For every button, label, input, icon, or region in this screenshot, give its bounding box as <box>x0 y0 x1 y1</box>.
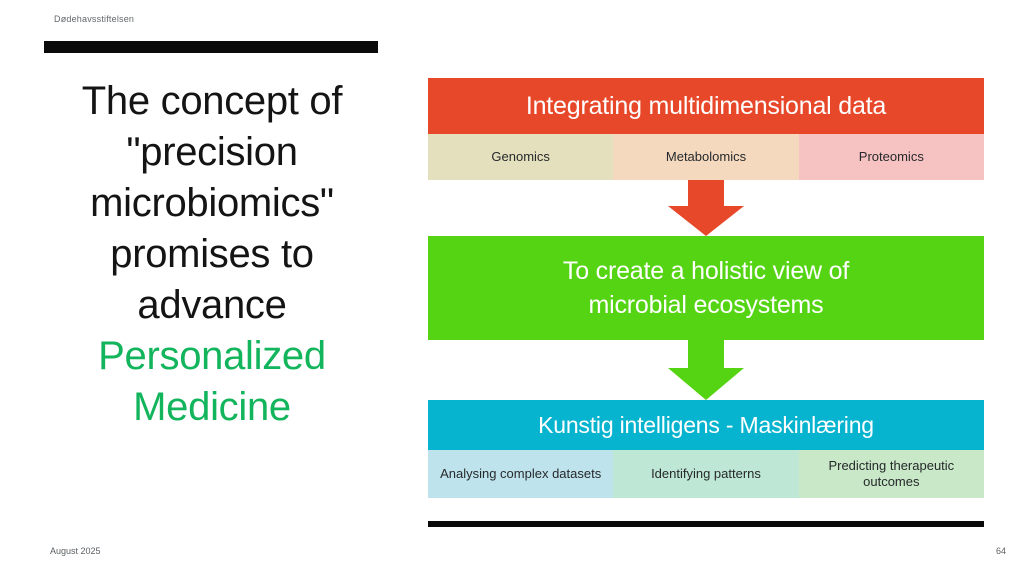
stage3-item-predicting-therapeutic-outcomes: Predicting therapeutic outcomes <box>799 450 984 498</box>
stage1-item-genomics: Genomics <box>428 134 613 180</box>
stage3-item-analysing-complex-datasets: Analysing complex datasets <box>428 450 613 498</box>
headline-line-5: advance <box>137 283 286 327</box>
stage3-title-banner: Kunstig intelligens - Maskinlæring <box>428 400 984 450</box>
stage1-item-metabolomics: Metabolomics <box>613 134 798 180</box>
arrow1-container <box>428 180 984 236</box>
stage2-title-banner: To create a holistic view of microbial e… <box>428 236 984 340</box>
down-arrow-green-icon <box>668 340 744 400</box>
page-title: The concept of "precision microbiomics" … <box>32 76 392 433</box>
slide-canvas: Dødehavsstiftelsen The concept of "preci… <box>0 0 1024 576</box>
stage3-item-identifying-patterns: Identifying patterns <box>613 450 798 498</box>
headline-line-2: "precision <box>126 130 297 174</box>
arrow2-container <box>428 340 984 400</box>
headline-line-1: The concept of <box>82 79 342 123</box>
footer-rule-bar <box>428 521 984 527</box>
page-number: 64 <box>996 546 1006 556</box>
headline-accent-line-2: Medicine <box>32 382 392 433</box>
stage2-title-line-1: To create a holistic view of <box>563 257 849 285</box>
headline-line-4: promises to <box>110 232 313 276</box>
stage2-title-line-2: microbial ecosystems <box>589 291 824 319</box>
down-arrow-red-icon <box>668 180 744 236</box>
headline-accent-line-1: Personalized <box>32 331 392 382</box>
stage1-item-proteomics: Proteomics <box>799 134 984 180</box>
stage1-title-banner: Integrating multidimensional data <box>428 78 984 134</box>
stage3-items-row: Analysing complex datasets Identifying p… <box>428 450 984 498</box>
organization-label: Dødehavsstiftelsen <box>54 14 134 24</box>
headline-line-3: microbiomics" <box>90 181 334 225</box>
footer-date: August 2025 <box>50 546 101 556</box>
flow-diagram: Integrating multidimensional data Genomi… <box>428 78 984 498</box>
title-rule-bar <box>44 41 378 53</box>
stage1-items-row: Genomics Metabolomics Proteomics <box>428 134 984 180</box>
